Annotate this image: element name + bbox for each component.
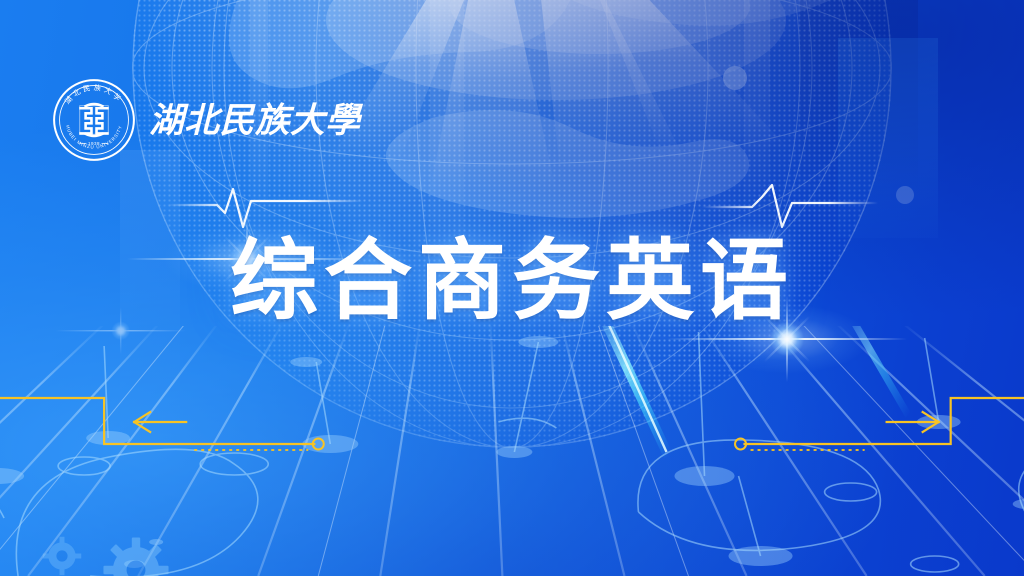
circuit-floor [0, 326, 1024, 576]
wordmark-text: 湖北民族大學 [149, 101, 363, 141]
title-slide: 湖北民族大学 HUBEI MINZU UNIVERSITY 1938 湖北民族大… [0, 0, 1024, 576]
university-logo: 湖北民族大学 HUBEI MINZU UNIVERSITY 1938 湖北民族大… [52, 78, 380, 162]
university-seal-icon: 湖北民族大学 HUBEI MINZU UNIVERSITY 1938 [52, 78, 136, 162]
page-title: 综合商务英语 [230, 236, 794, 326]
seal-year: 1938 [88, 141, 100, 146]
university-wordmark: 湖北民族大學 湖北民族大學 [149, 95, 380, 145]
title-block: 综合商务英语 [0, 236, 1024, 326]
